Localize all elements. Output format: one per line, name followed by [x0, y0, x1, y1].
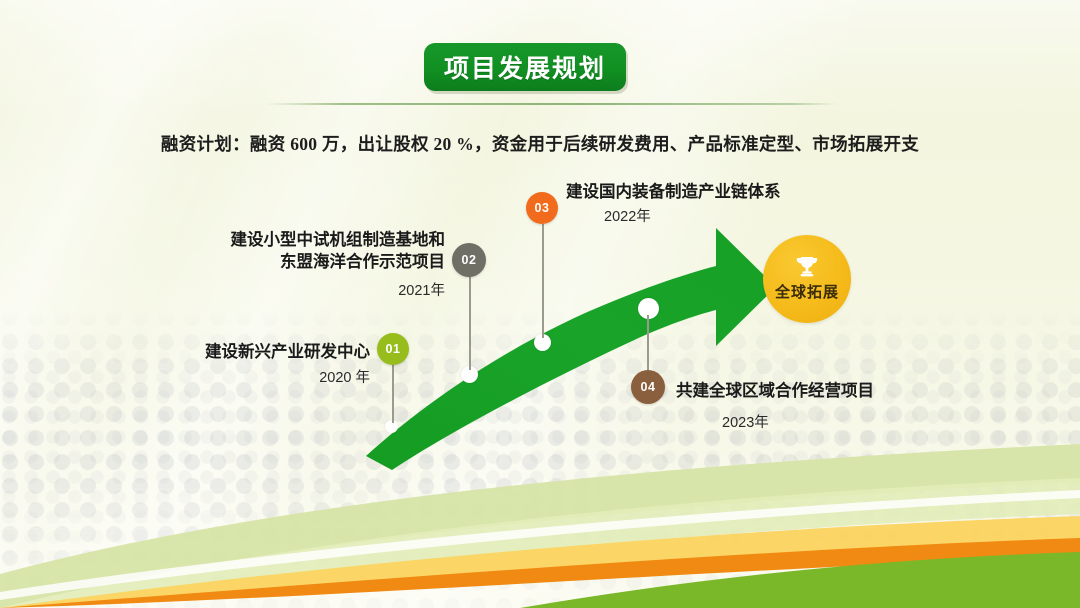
- milestone-label-03: 建设国内装备制造产业链体系: [566, 181, 886, 203]
- milestone-label-04-line-1: 共建全球区域合作经营项目: [676, 380, 996, 402]
- milestone-label-01-line-1: 建设新兴产业研发中心: [150, 341, 370, 363]
- goal-circle[interactable]: 全球拓展: [763, 235, 851, 323]
- trophy-icon: [794, 255, 820, 279]
- milestone-label-04: 共建全球区域合作经营项目: [676, 380, 996, 402]
- milestone-badge-02[interactable]: 02: [452, 243, 486, 277]
- title-divider: [265, 103, 837, 105]
- milestone-year-01: 2020 年: [170, 366, 370, 387]
- goal-label: 全球拓展: [775, 281, 839, 302]
- slide-title-badge: 项目发展规划: [424, 43, 626, 91]
- milestone-number-03: 03: [535, 201, 550, 215]
- milestone-label-02-line-1: 建设小型中试机组制造基地和: [180, 229, 445, 251]
- milestone-number-04: 04: [641, 380, 656, 394]
- subtitle-text: 融资计划：融资 600 万，出让股权 20 %，资金用于后续研发费用、产品标准定…: [0, 131, 1080, 156]
- milestone-number-02: 02: [462, 253, 477, 267]
- milestone-stem-03: [542, 224, 544, 338]
- milestone-year-03: 2022年: [604, 205, 804, 226]
- milestone-year-04: 2023年: [722, 411, 922, 432]
- milestone-label-03-line-1: 建设国内装备制造产业链体系: [566, 181, 886, 203]
- milestone-badge-04[interactable]: 04: [631, 370, 665, 404]
- milestone-stem-01: [392, 363, 394, 423]
- circle-pattern-texture-secondary: [0, 328, 1080, 568]
- milestone-label-01: 建设新兴产业研发中心: [150, 341, 370, 363]
- milestone-badge-01[interactable]: 01: [377, 333, 409, 365]
- milestone-badge-03[interactable]: 03: [526, 192, 558, 224]
- milestone-stem-04: [647, 315, 649, 373]
- slide-canvas: 项目发展规划 融资计划：融资 600 万，出让股权 20 %，资金用于后续研发费…: [0, 0, 1080, 608]
- milestone-stem-02: [469, 275, 471, 370]
- page-title: 项目发展规划: [444, 49, 606, 85]
- milestone-number-01: 01: [386, 342, 401, 356]
- growth-arrow-graphic: [0, 0, 1080, 608]
- milestone-label-02: 建设小型中试机组制造基地和 东盟海洋合作示范项目: [180, 229, 445, 273]
- milestone-year-02: 2021年: [245, 279, 445, 300]
- milestone-label-02-line-2: 东盟海洋合作示范项目: [180, 251, 445, 273]
